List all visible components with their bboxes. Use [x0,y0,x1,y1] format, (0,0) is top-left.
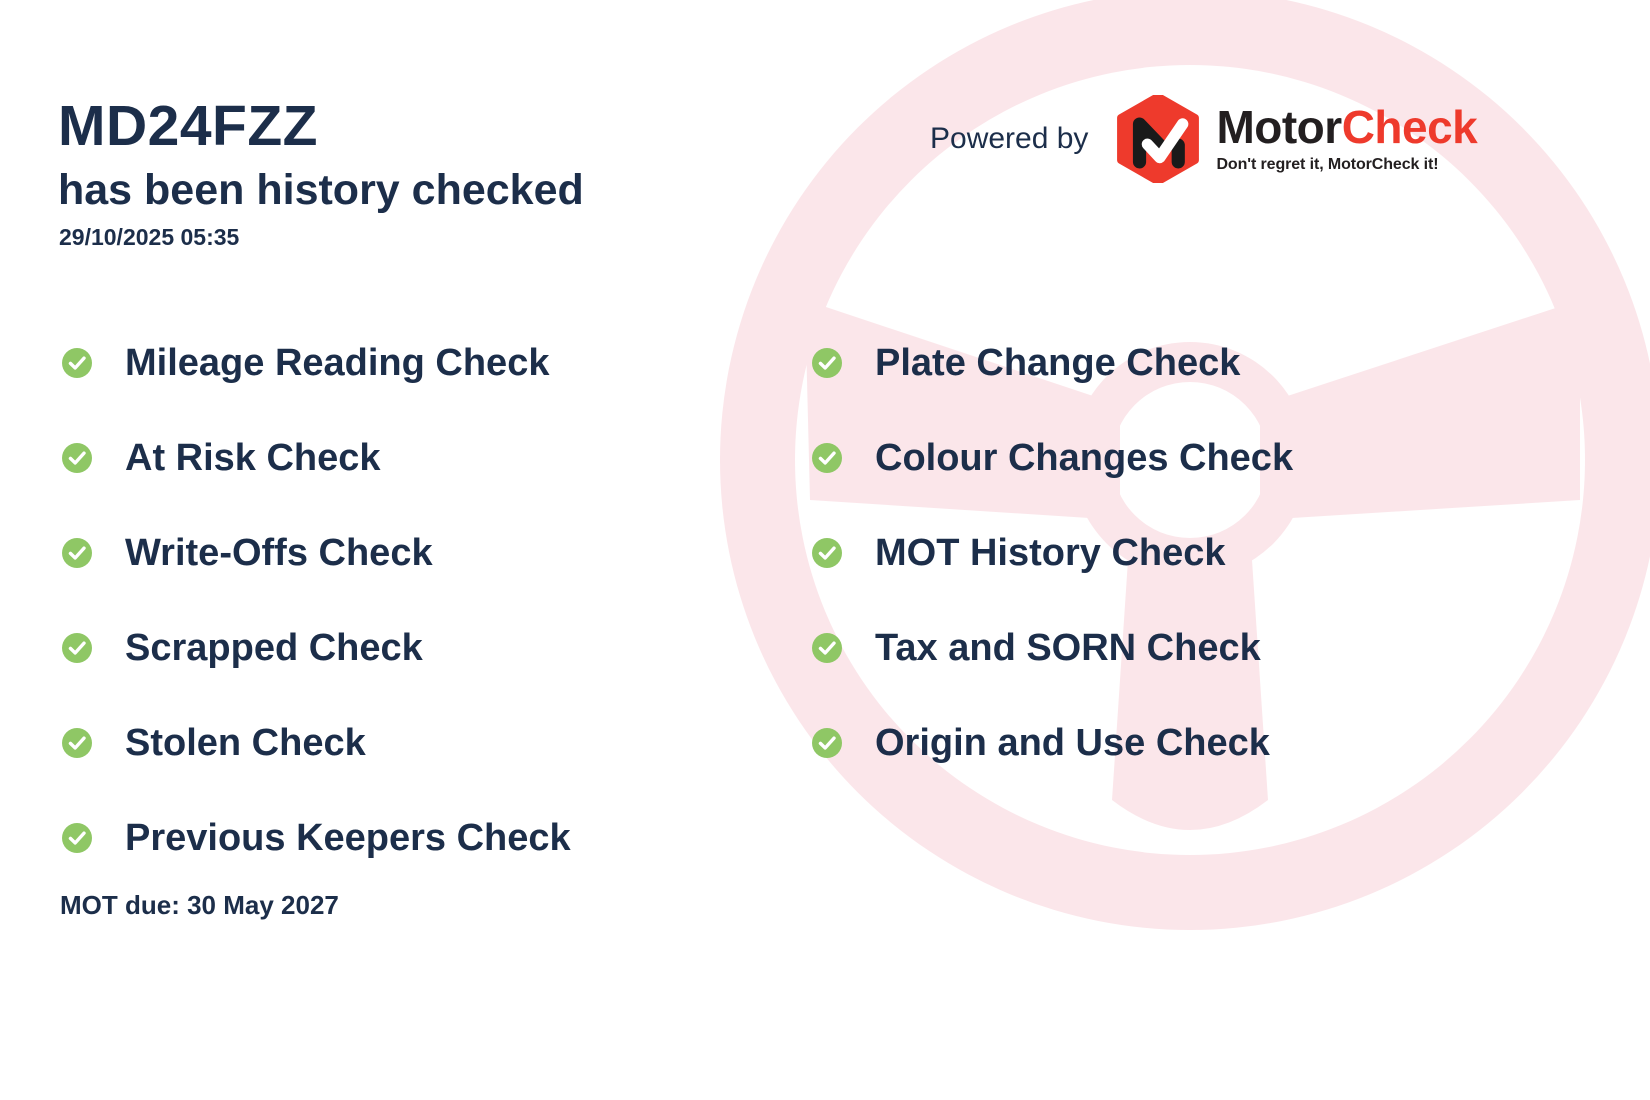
wordmark-motor: Motor [1216,101,1341,153]
check-circle-icon [62,823,92,853]
brand-tagline: Don't regret it, MotorCheck it! [1216,156,1477,174]
check-item-label: Scrapped Check [125,629,423,667]
check-list-item: Write-Offs Check [62,505,571,600]
check-circle-icon [812,633,842,663]
card-header: MD24FZZ has been history checked 29/10/2… [58,98,584,251]
check-timestamp: 29/10/2025 05:35 [59,224,584,251]
check-list-item: At Risk Check [62,410,571,505]
check-circle-icon [62,538,92,568]
check-list-item: Colour Changes Check [812,410,1293,505]
powered-by-block: Powered by MotorCheck Don't regret it, M… [930,95,1477,183]
check-item-label: Stolen Check [125,724,366,762]
checks-column-left: Mileage Reading Check At Risk Check Writ… [62,315,571,885]
motorcheck-logo[interactable]: MotorCheck Don't regret it, MotorCheck i… [1114,95,1477,183]
check-item-label: Mileage Reading Check [125,344,549,382]
check-circle-icon [62,633,92,663]
check-item-label: Tax and SORN Check [875,629,1261,667]
check-list-item: Plate Change Check [812,315,1293,410]
check-circle-icon [812,728,842,758]
powered-by-label: Powered by [930,122,1088,156]
check-circle-icon [812,443,842,473]
check-item-label: Write-Offs Check [125,534,433,572]
wordmark-check: Check [1342,101,1478,153]
motorcheck-hexagon-logo-icon [1114,95,1202,183]
vehicle-registration-plate: MD24FZZ [58,98,584,155]
check-list-item: Stolen Check [62,695,571,790]
check-list-item: Scrapped Check [62,600,571,695]
check-list-item: Mileage Reading Check [62,315,571,410]
check-list-item: Previous Keepers Check [62,790,571,885]
motorcheck-wordmark: MotorCheck Don't regret it, MotorCheck i… [1216,104,1477,174]
check-list-item: MOT History Check [812,505,1293,600]
check-item-label: At Risk Check [125,439,381,477]
check-item-label: Colour Changes Check [875,439,1293,477]
check-circle-icon [62,728,92,758]
check-list-item: Tax and SORN Check [812,600,1293,695]
vehicle-history-check-card: MD24FZZ has been history checked 29/10/2… [0,0,1650,1100]
check-circle-icon [62,443,92,473]
check-status-headline: has been history checked [58,165,584,216]
check-item-label: Origin and Use Check [875,724,1270,762]
check-circle-icon [812,538,842,568]
check-item-label: Previous Keepers Check [125,819,571,857]
check-item-label: Plate Change Check [875,344,1240,382]
checks-column-right: Plate Change Check Colour Changes Check … [812,315,1293,790]
check-list-item: Origin and Use Check [812,695,1293,790]
check-item-label: MOT History Check [875,534,1226,572]
wordmark-row: MotorCheck [1216,104,1477,150]
check-circle-icon [812,348,842,378]
check-circle-icon [62,348,92,378]
mot-due-date: MOT due: 30 May 2027 [60,890,339,921]
